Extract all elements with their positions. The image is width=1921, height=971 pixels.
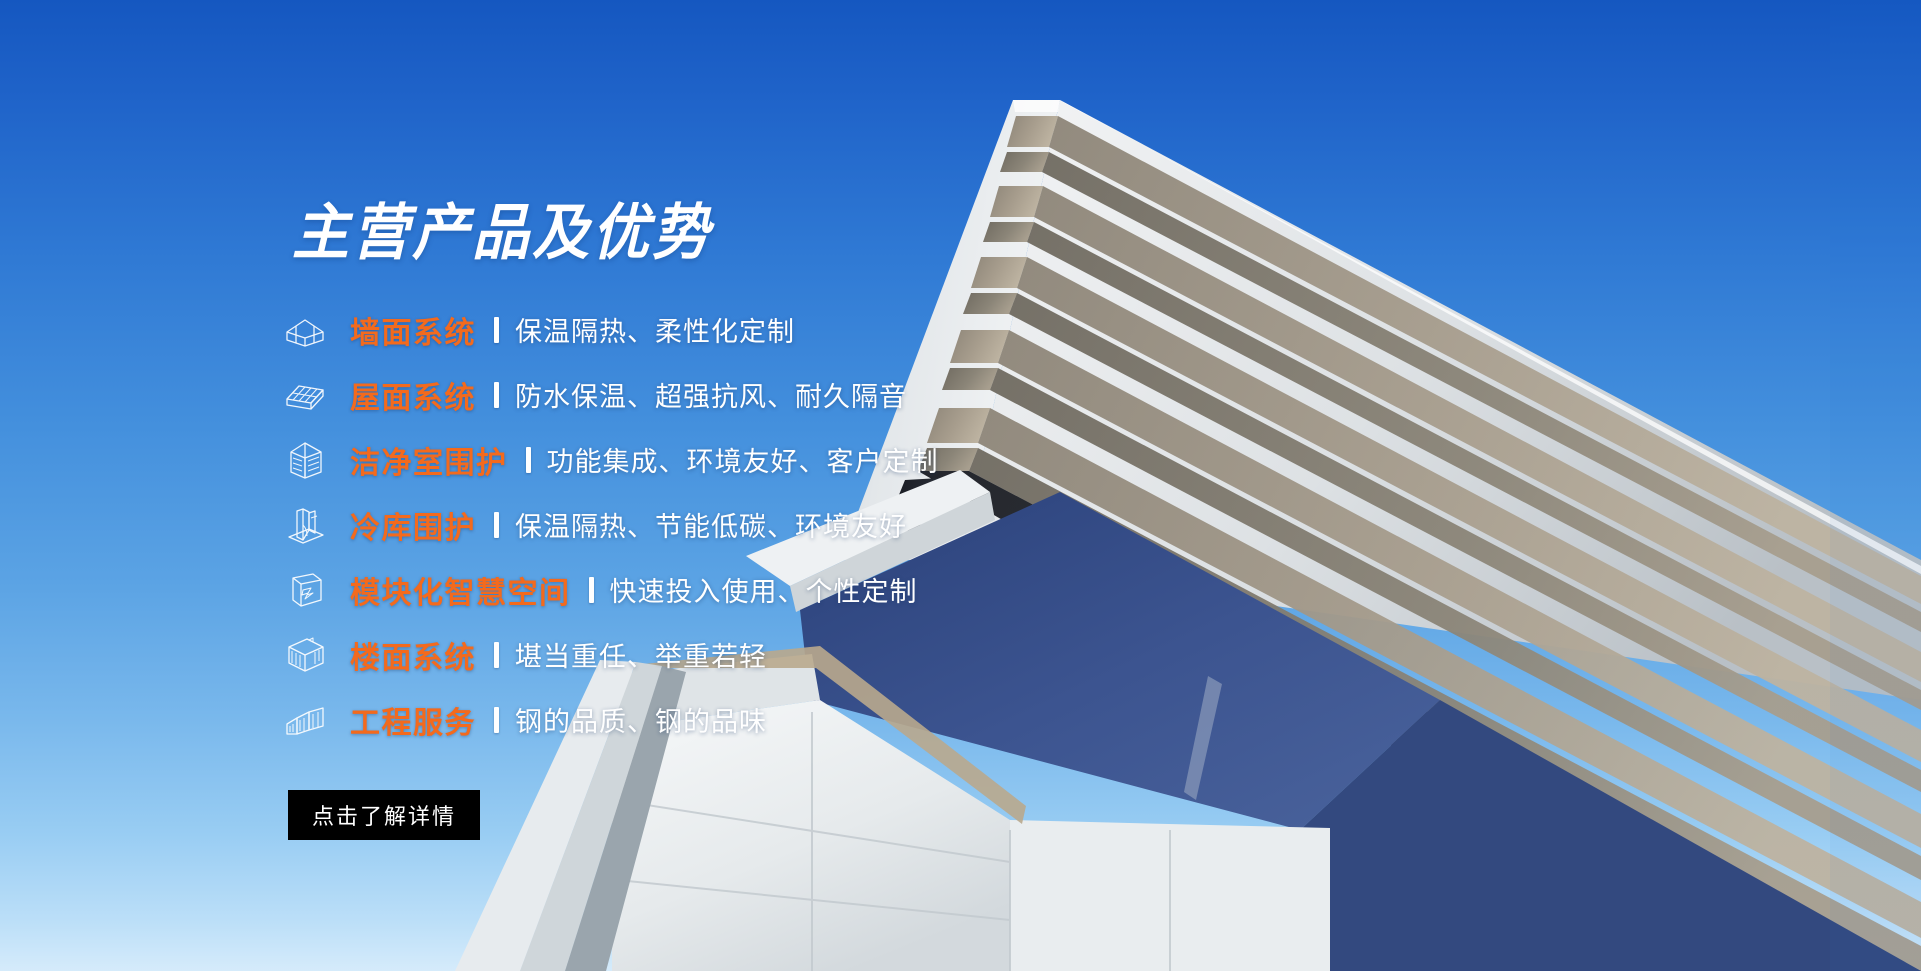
product-list: 墙面系统 保温隔热、柔性化定制 屋面系统 [282,297,1282,752]
product-desc: 堪当重任、举重若轻 [515,635,767,674]
banner-content: 主营产品及优势 墙面系统 保温隔热、柔性化定制 [292,0,1272,971]
product-title: 墙面系统 [350,308,476,352]
product-desc: 钢的品质、钢的品味 [515,700,767,739]
row-separator [494,382,499,408]
page-title: 主营产品及优势 [292,203,712,264]
learn-more-button[interactable]: 点击了解详情 [288,790,480,840]
cleanroom-building-icon [282,437,328,483]
product-desc: 保温隔热、节能低碳、环境友好 [515,505,907,544]
row-separator [589,577,594,603]
product-desc: 快速投入使用、个性定制 [610,570,918,609]
row-separator [494,317,499,343]
modular-cube-icon [282,567,328,613]
floor-deck-icon [282,632,328,678]
product-item-modular-space[interactable]: 模块化智慧空间 快速投入使用、个性定制 [282,557,1282,622]
product-desc: 功能集成、环境友好、客户定制 [547,440,939,479]
product-title: 楼面系统 [350,633,476,677]
product-title: 工程服务 [350,698,476,742]
product-title: 屋面系统 [350,373,476,417]
row-separator [494,707,499,733]
product-item-floor-system[interactable]: 楼面系统 堪当重任、举重若轻 [282,622,1282,687]
roof-panel-icon [282,372,328,418]
product-item-roof-system[interactable]: 屋面系统 防水保温、超强抗风、耐久隔音 [282,362,1282,427]
engineering-service-icon [282,697,328,743]
product-item-engineering-service[interactable]: 工程服务 钢的品质、钢的品味 [282,687,1282,752]
product-title: 洁净室围护 [350,438,508,482]
cold-storage-icon [282,502,328,548]
product-desc: 保温隔热、柔性化定制 [515,310,795,349]
row-separator [526,447,531,473]
wall-panel-icon [282,307,328,353]
product-advantage-banner: 主营产品及优势 墙面系统 保温隔热、柔性化定制 [0,0,1921,971]
product-title: 模块化智慧空间 [350,568,571,612]
row-separator [494,642,499,668]
product-item-cleanroom[interactable]: 洁净室围护 功能集成、环境友好、客户定制 [282,427,1282,492]
row-separator [494,512,499,538]
product-item-cold-storage[interactable]: 冷库围护 保温隔热、节能低碳、环境友好 [282,492,1282,557]
product-title: 冷库围护 [350,503,476,547]
product-item-wall-system[interactable]: 墙面系统 保温隔热、柔性化定制 [282,297,1282,362]
product-desc: 防水保温、超强抗风、耐久隔音 [515,375,907,414]
